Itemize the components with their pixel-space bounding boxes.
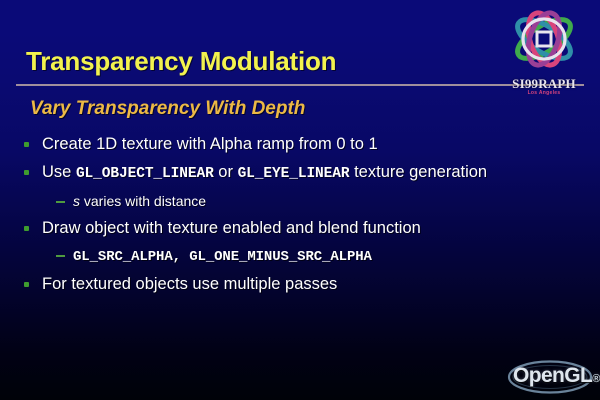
opengl-logo: OpenGL® — [505, 358, 595, 396]
bullet-text-run: texture generation — [350, 163, 488, 181]
bullet-dash-icon — [56, 201, 65, 203]
bullet-text-run: GL_EYE_LINEAR — [238, 166, 350, 182]
bullet-text-run: Create 1D texture with Alpha ramp from 0… — [42, 135, 378, 153]
slide-subtitle: Vary Transparency With Depth — [30, 98, 305, 120]
bullet-text: Create 1D texture with Alpha ramp from 0… — [42, 134, 544, 155]
bullet-text-run: s — [73, 193, 80, 209]
bullet-dot-icon — [24, 142, 29, 147]
bullet-item: s varies with distance — [24, 192, 544, 211]
bullet-dash-icon — [56, 255, 65, 257]
bullet-item: For textured objects use multiple passes — [24, 274, 544, 295]
bullet-text-run: Use — [42, 163, 76, 181]
bullet-text-run: or — [214, 163, 238, 181]
bullet-text-run: For textured objects use multiple passes — [42, 275, 337, 293]
slide-title: Transparency Modulation — [26, 46, 336, 77]
slide-canvas: Transparency Modulation Vary Transparenc… — [0, 0, 600, 400]
bullet-text: Use GL_OBJECT_LINEAR or GL_EYE_LINEAR te… — [42, 162, 544, 185]
bullet-text-run: GL_SRC_ALPHA, GL_ONE_MINUS_SRC_ALPHA — [73, 249, 372, 265]
opengl-wordmark: OpenGL® — [513, 364, 600, 388]
bullet-text-run: GL_OBJECT_LINEAR — [76, 166, 214, 182]
bullet-text-run: Draw object with texture enabled and ble… — [42, 219, 421, 237]
opengl-trademark-symbol: ® — [592, 373, 600, 385]
bullet-dot-icon — [24, 226, 29, 231]
bullet-text: GL_SRC_ALPHA, GL_ONE_MINUS_SRC_ALPHA — [73, 246, 544, 267]
bullet-text: For textured objects use multiple passes — [42, 274, 544, 295]
bullet-item: Create 1D texture with Alpha ramp from 0… — [24, 134, 544, 155]
siggraph-logo: SI99RAPH Los Angeles — [492, 6, 596, 98]
siggraph-location-label: Los Angeles — [492, 90, 596, 96]
bullet-item: Draw object with texture enabled and ble… — [24, 218, 544, 239]
bullet-text-run: varies with distance — [80, 193, 206, 209]
bullet-text: s varies with distance — [73, 192, 544, 211]
bullet-dot-icon — [24, 282, 29, 287]
siggraph-rings-icon — [492, 6, 596, 76]
bullet-text: Draw object with texture enabled and ble… — [42, 218, 544, 239]
opengl-wordmark-text: OpenGL — [513, 364, 592, 387]
bullet-dot-icon — [24, 170, 29, 175]
bullet-item: Use GL_OBJECT_LINEAR or GL_EYE_LINEAR te… — [24, 162, 544, 185]
bullet-list: Create 1D texture with Alpha ramp from 0… — [24, 134, 544, 302]
bullet-item: GL_SRC_ALPHA, GL_ONE_MINUS_SRC_ALPHA — [24, 246, 544, 267]
